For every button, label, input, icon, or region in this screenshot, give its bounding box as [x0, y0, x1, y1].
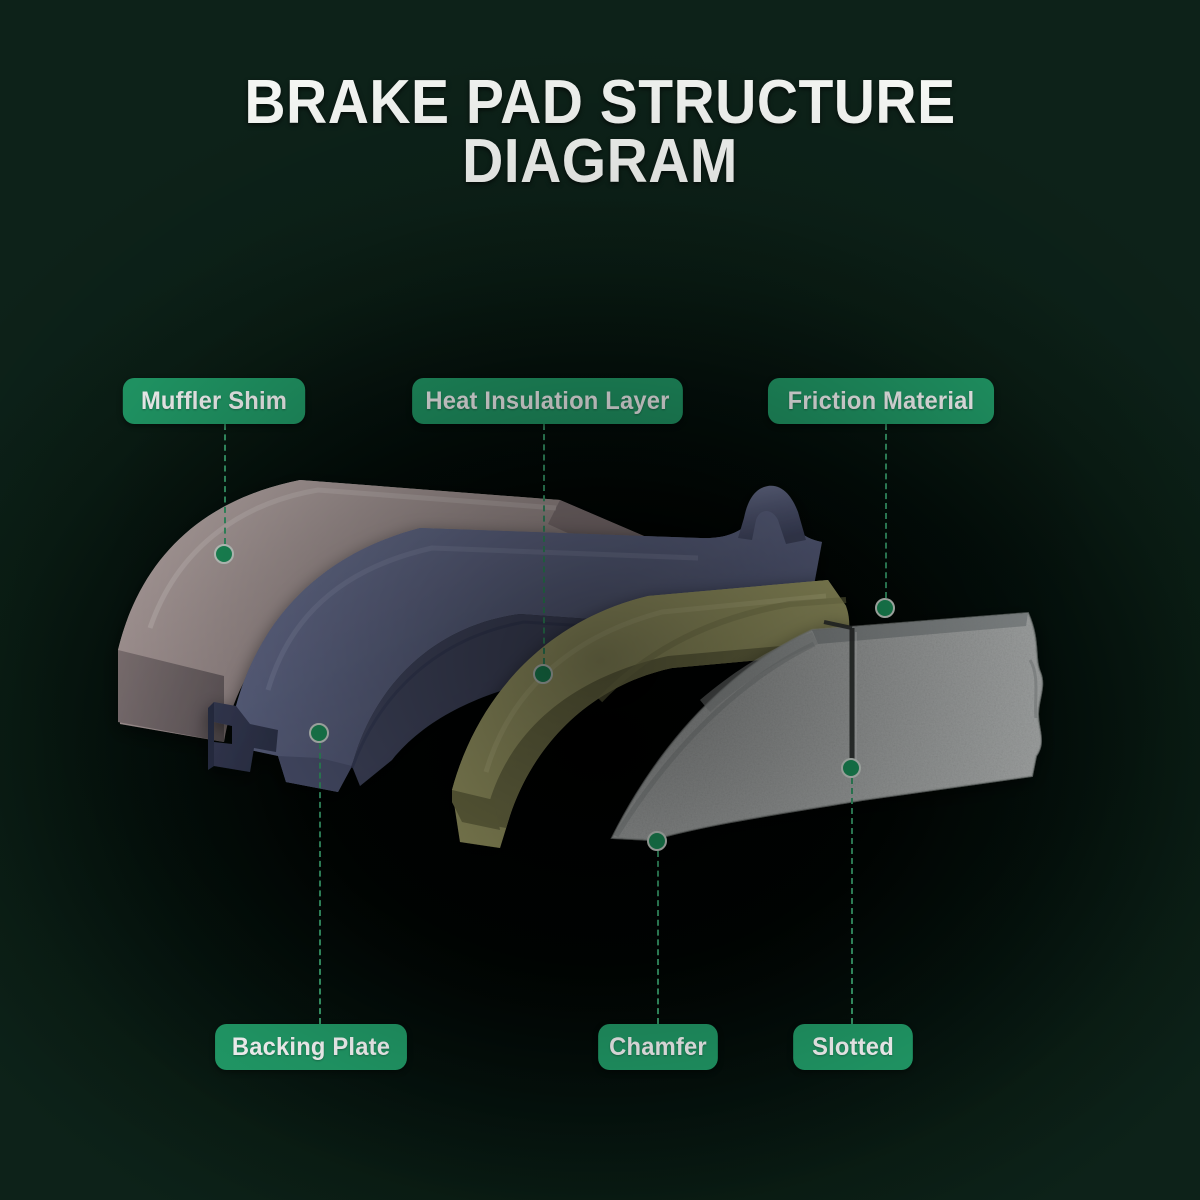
leader-line-heat-insulation: [543, 424, 545, 664]
diagram-canvas: BRAKE PAD STRUCTURE DIAGRAM: [0, 0, 1200, 1200]
callout-badge-slotted[interactable]: Slotted: [793, 1024, 913, 1070]
callout-badge-muffler-shim[interactable]: Muffler Shim: [123, 378, 305, 424]
anchor-dot-heat-insulation: [533, 664, 553, 684]
callout-badge-chamfer[interactable]: Chamfer: [598, 1024, 718, 1070]
anchor-dot-muffler-shim: [214, 544, 234, 564]
leader-line-slotted: [851, 778, 853, 1024]
callout-badge-friction-material[interactable]: Friction Material: [768, 378, 994, 424]
callout-badge-backing-plate[interactable]: Backing Plate: [215, 1024, 407, 1070]
anchor-dot-friction-material: [875, 598, 895, 618]
leader-line-muffler-shim: [224, 424, 226, 544]
anchor-dot-backing-plate: [309, 723, 329, 743]
anchor-dot-slotted: [841, 758, 861, 778]
anchor-dot-chamfer: [647, 831, 667, 851]
leader-line-chamfer: [657, 851, 659, 1024]
callout-badge-heat-insulation-layer[interactable]: Heat Insulation Layer: [412, 378, 683, 424]
leader-line-backing-plate: [319, 743, 321, 1024]
brake-pad-exploded-illustration: [0, 0, 1200, 1200]
leader-line-friction-material: [885, 424, 887, 598]
